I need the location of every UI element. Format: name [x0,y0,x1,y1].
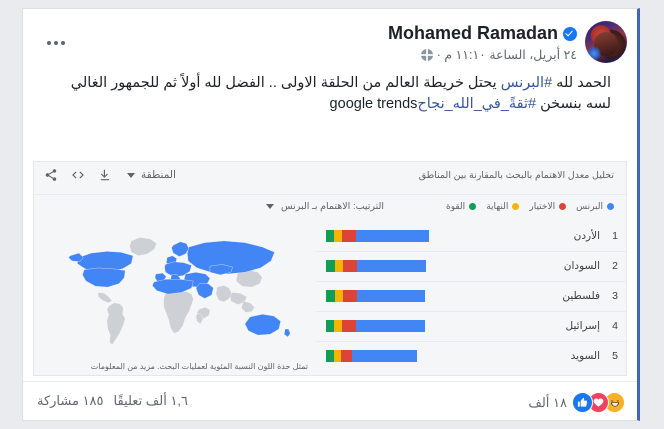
legend-dot-3 [469,203,476,210]
region-name: إسرائيل [566,320,600,332]
world-map[interactable] [34,226,316,357]
post-text-line-1: الحمد لله #البرنس يحتل خريطة العالم من ا… [49,73,611,94]
reactions-summary[interactable]: ١٨ ألف [528,392,625,413]
post-text-line-2: لسه بنسخن #ثقةً_في_الله_نجاح google tren… [49,94,611,115]
google-trends-embed: المنطقة تحليل معدل الاهتمام بالبحث بالمق… [33,161,627,376]
bar-segment-0 [326,290,335,302]
region-name: السودان [564,260,600,272]
chevron-down-icon [127,173,135,178]
verified-badge-icon [563,27,577,41]
bar-segment-3 [356,320,425,332]
legend-item-2[interactable]: النهاية [486,201,519,212]
sort-dropdown[interactable]: الترتيب: الاهتمام بـ البرنس [266,201,384,212]
post-footer: ١٨ ألف ١,٦ ألف تعليقًا ١٨٥ مشاركة [23,381,637,421]
avatar[interactable] [585,21,627,63]
table-row[interactable]: 5 السويد [316,342,626,371]
region-name: السويد [571,350,600,362]
bar-segment-1 [334,230,342,242]
region-rank-list: 1 الأردن 2 السودان 3 فلسطين 4 إسرائيل [316,222,626,375]
bar-segment-3 [352,350,416,362]
trends-toolbar: المنطقة تحليل معدل الاهتمام بالبحث بالمق… [34,162,626,195]
ellipsis-icon[interactable] [47,41,65,45]
like-reaction-icon [572,392,593,413]
post-text-1a: الحمد لله [552,75,611,91]
bar-segment-2 [343,290,357,302]
world-map-panel[interactable]: تمثل حدة اللون النسبة المئوية لعمليات ال… [34,222,316,375]
trends-subtoolbar: الترتيب: الاهتمام بـ البرنس البرنس الاخت… [34,195,626,223]
sort-dropdown-label: الترتيب: الاهتمام بـ البرنس [281,201,384,212]
bar-segment-0 [326,320,334,332]
bar-segment-2 [343,260,357,272]
legend-item-3[interactable]: القوة [446,201,476,212]
stacked-bar [326,260,426,272]
globe-icon [421,49,433,61]
code-embed-icon[interactable] [71,168,85,182]
post-text-2b: google trends [326,96,418,112]
trends-title: تحليل معدل الاهتمام بالبحث بالمقارنة بين… [419,170,614,181]
table-row[interactable]: 2 السودان [316,252,626,282]
rank-number: 1 [612,230,618,242]
table-row[interactable]: 1 الأردن [316,222,626,252]
stacked-bar [326,350,417,362]
bar-segment-3 [356,230,429,242]
post-text-2a: لسه بنسخن [536,96,611,112]
rank-number: 5 [612,350,618,362]
author-name[interactable]: Mohamed Ramadan [388,23,558,44]
bar-segment-1 [335,260,343,272]
world-map-svg [34,226,316,357]
legend-dot-1 [559,203,566,210]
post-text-1b: يحتل خريطة العالم من الحلقة الاولى .. ال… [71,75,501,91]
region-dropdown-label: المنطقة [141,169,176,181]
chart-legend: البرنس الاختيار النهاية القوة [446,201,614,212]
legend-dot-2 [512,203,519,210]
legend-label-1: الاختيار [529,201,555,212]
region-name: فلسطين [562,290,600,302]
comment-share-counts: ١,٦ ألف تعليقًا ١٨٥ مشاركة [37,393,188,409]
post-meta: ٢٤ أبريل، الساعة ١١:١٠ م · [421,47,577,62]
hashtag-theqa-fi-allah-najah[interactable]: #ثقةً_في_الله_نجاح [417,96,536,112]
bar-segment-3 [357,260,426,272]
table-row[interactable]: 4 إسرائيل [316,312,626,342]
trends-content: 1 الأردن 2 السودان 3 فلسطين 4 إسرائيل [34,222,626,375]
region-name: الأردن [574,230,600,242]
rank-number: 4 [612,320,618,332]
share-icon[interactable] [44,168,58,182]
stacked-bar [326,290,425,302]
bar-segment-2 [341,350,352,362]
legend-dot-0 [607,203,614,210]
bar-segment-2 [342,230,355,242]
stacked-bar [326,320,425,332]
region-dropdown[interactable]: المنطقة [127,169,176,181]
bar-segment-3 [357,290,425,302]
author-row: Mohamed Ramadan [388,23,577,44]
map-caption[interactable]: تمثل حدة اللون النسبة المئوية لعمليات ال… [91,362,308,371]
bar-segment-2 [342,320,356,332]
post-timestamp[interactable]: ٢٤ أبريل، الساعة ١١:١٠ م · [437,47,577,62]
bar-segment-1 [335,290,343,302]
share-count[interactable]: ١٨٥ مشاركة [37,393,104,409]
post-header: Mohamed Ramadan ٢٤ أبريل، الساعة ١١:١٠ م… [23,9,637,71]
reaction-icons [572,392,625,413]
legend-label-2: النهاية [486,201,508,212]
trends-tools: المنطقة [44,168,176,182]
bar-segment-0 [326,350,334,362]
avatar-glow [587,46,601,61]
comment-count[interactable]: ١,٦ ألف تعليقًا [114,393,189,409]
chevron-down-icon [266,204,274,209]
legend-label-3: القوة [446,201,465,212]
legend-item-1[interactable]: الاختيار [529,201,566,212]
download-icon[interactable] [98,168,112,182]
bar-segment-1 [334,350,341,362]
rank-number: 3 [612,290,618,302]
table-row[interactable]: 3 فلسطين [316,282,626,312]
rank-number: 2 [612,260,618,272]
legend-item-0[interactable]: البرنس [576,201,614,212]
post-text: الحمد لله #البرنس يحتل خريطة العالم من ا… [23,73,637,115]
facebook-post-card: Mohamed Ramadan ٢٤ أبريل، الساعة ١١:١٠ م… [22,8,640,421]
bar-segment-0 [326,260,335,272]
bar-segment-0 [326,230,334,242]
hashtag-albrins[interactable]: #البرنس [501,75,552,91]
bar-segment-1 [334,320,342,332]
legend-label-0: البرنس [576,201,603,212]
reaction-count: ١٨ ألف [528,395,567,411]
stacked-bar [326,230,429,242]
